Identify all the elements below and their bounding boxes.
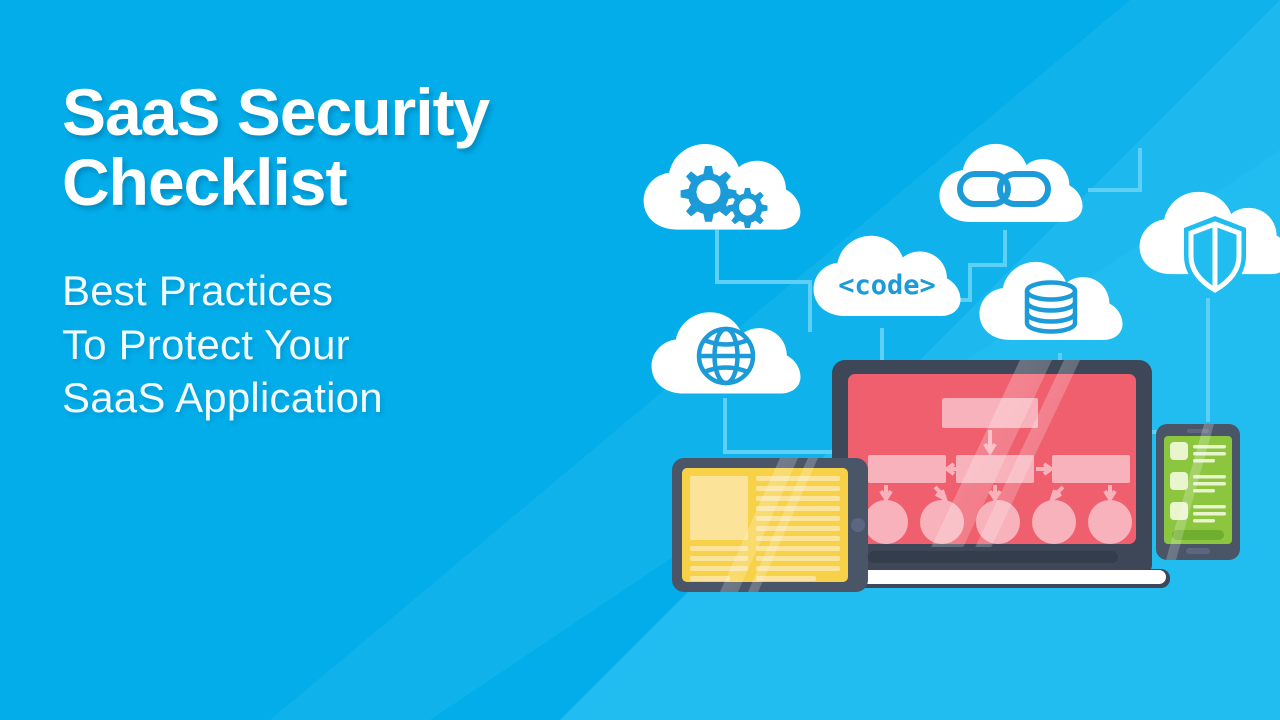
text-block: SaaS Security Checklist Best Practices T…	[62, 78, 682, 425]
title-line-1: SaaS Security	[62, 78, 682, 148]
illustration: <code>	[620, 0, 1280, 720]
phone-home-button[interactable]	[1186, 548, 1210, 554]
tablet	[672, 458, 868, 592]
subtitle-line-1: Best Practices	[62, 264, 682, 318]
title-line-2: Checklist	[62, 148, 682, 218]
page-subtitle: Best Practices To Protect Your SaaS Appl…	[62, 264, 682, 425]
code-cloud-label: <code>	[838, 270, 936, 301]
database-cloud	[979, 262, 1122, 340]
page-title: SaaS Security Checklist	[62, 78, 682, 218]
poster-canvas: SaaS Security Checklist Best Practices T…	[0, 0, 1280, 720]
shield-icon	[1184, 216, 1246, 298]
tablet-home-button[interactable]	[851, 518, 865, 532]
laptop-base	[818, 570, 1166, 584]
shield-cloud	[1138, 188, 1280, 298]
subtitle-line-2: To Protect Your	[62, 318, 682, 372]
phone	[1156, 424, 1240, 560]
globe-cloud	[652, 312, 801, 393]
gears-cloud	[644, 144, 801, 230]
link-cloud	[939, 144, 1082, 222]
subtitle-line-3: SaaS Application	[62, 371, 682, 425]
code-cloud: <code>	[814, 236, 961, 316]
